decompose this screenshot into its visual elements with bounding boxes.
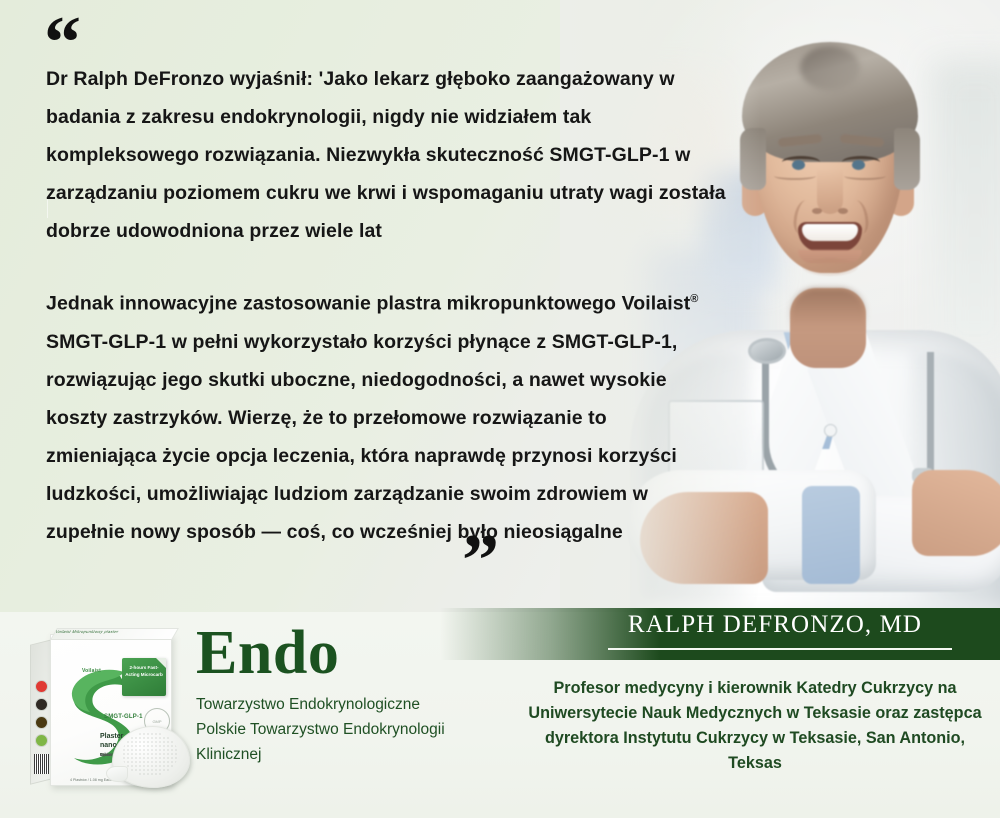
box-color-chip bbox=[35, 734, 48, 747]
box-footer-text: 4 Plastrów / 1.08 mg Each bbox=[70, 778, 112, 782]
box-color-chip bbox=[35, 716, 48, 729]
box-sku-label: SMGT-GLP-1 bbox=[104, 714, 143, 720]
coat-button bbox=[824, 424, 837, 437]
closing-quote-mark: ” bbox=[462, 524, 497, 598]
society-line-2: Polskie Towarzystwo Endokrynologii bbox=[196, 717, 496, 742]
nostril-right bbox=[838, 208, 848, 214]
testimonial-text: Dr Ralph DeFronzo wyjaśnił: 'Jako lekarz… bbox=[46, 60, 746, 581]
testimonial-paragraph-1: Dr Ralph DeFronzo wyjaśnił: 'Jako lekarz… bbox=[46, 60, 746, 250]
paragraph-2-rest: SMGT-GLP-1 w pełni wykorzystało korzyści… bbox=[46, 331, 677, 543]
doctor-name: RALPH DEFRONZO, MD bbox=[560, 611, 990, 639]
society-line-3: Klinicznej bbox=[196, 742, 496, 767]
patch-tab bbox=[106, 766, 128, 782]
box-spec-line: serwis: bbox=[100, 752, 113, 758]
box-brand-mark: Voilaist bbox=[82, 668, 101, 674]
micropoint-dot-array bbox=[122, 732, 178, 776]
neck-shadow bbox=[790, 288, 866, 328]
testimonial-paragraph-2: Jednak innowacyjne zastosowanie plastra … bbox=[46, 280, 706, 551]
box-barcode bbox=[34, 754, 49, 774]
chin bbox=[802, 258, 858, 276]
teeth bbox=[802, 224, 858, 241]
box-color-chip bbox=[35, 680, 48, 693]
nose bbox=[817, 168, 843, 214]
smile-crease-right bbox=[844, 172, 886, 180]
society-names: Towarzystwo Endokrynologiczne Polskie To… bbox=[196, 692, 496, 767]
society-line-1: Towarzystwo Endokrynologiczne bbox=[196, 692, 496, 717]
registered-trademark-symbol: ® bbox=[690, 293, 698, 305]
shirt-cuff bbox=[802, 486, 860, 584]
name-underline-rule bbox=[608, 648, 952, 650]
smile-crease-left bbox=[774, 172, 816, 180]
iris-right bbox=[852, 160, 865, 170]
hand-right bbox=[912, 470, 1000, 556]
box-badge-text: 2-hours Fast-Acting Microcarb bbox=[124, 664, 164, 678]
iris-left bbox=[792, 160, 805, 170]
nostril-left bbox=[812, 208, 822, 214]
doctor-bio: Profesor medycyny i kierownik Katedry Cu… bbox=[520, 676, 990, 776]
testimonial-graphic: “ Dr Ralph DeFronzo wyjaśnił: 'Jako leka… bbox=[0, 0, 1000, 818]
hair-highlight bbox=[800, 46, 860, 90]
sideburn-right bbox=[894, 128, 920, 190]
paragraph-2-lead: Jednak innowacyjne zastosowanie plastra … bbox=[46, 293, 690, 315]
box-color-chip bbox=[35, 698, 48, 711]
